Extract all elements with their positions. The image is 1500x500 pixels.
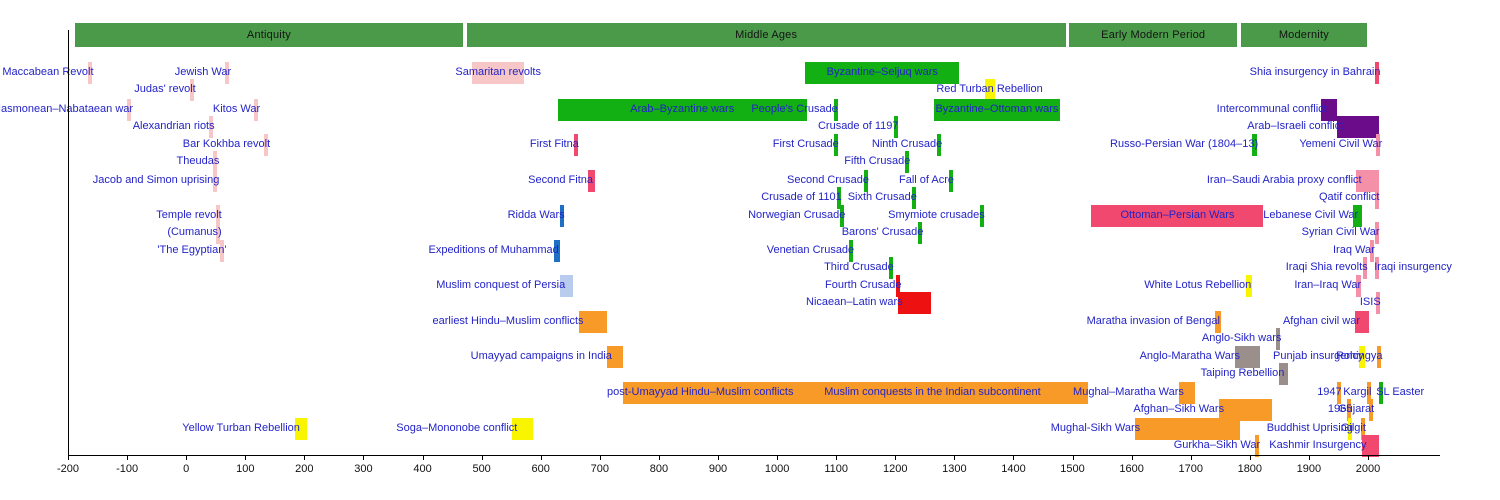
event-label: Expeditions of Muhammad [428, 244, 558, 256]
event-label: Taiping Rebellion [1201, 367, 1285, 379]
axis-tick-label: 900 [709, 463, 727, 475]
event-label: Gurkha–Sikh War [1174, 439, 1260, 451]
event-label: Bar Kokhba revolt [183, 138, 270, 150]
axis-tick-label: 1900 [1297, 463, 1321, 475]
event-label: Second Fitna [528, 174, 593, 186]
event-label: Maccabean Revolt [2, 66, 93, 78]
axis-tick [304, 455, 305, 460]
event-label: Intercommunal conflict [1217, 103, 1327, 115]
event-label: Iraqi insurgency [1374, 261, 1452, 273]
event-label: Afghan–Sikh Wars [1133, 403, 1224, 415]
event-label: Samaritan revolts [455, 66, 541, 78]
event-label: Anglo-Maratha Wars [1140, 350, 1240, 362]
era-segment[interactable]: Early Modern Period [1068, 22, 1238, 48]
event-label: First Fitna [530, 138, 579, 150]
event-label: Red Turban Rebellion [936, 83, 1042, 95]
event-label: Iran–Saudi Arabia proxy conflict [1207, 174, 1362, 186]
axis-tick-label: 2000 [1356, 463, 1380, 475]
axis-tick [954, 455, 955, 460]
event-label: ISIS [1360, 296, 1381, 308]
era-segment[interactable]: Modernity [1240, 22, 1368, 48]
axis-tick-label: -100 [116, 463, 138, 475]
event-label: Rohingya [1336, 350, 1382, 362]
event-label: Temple revolt [156, 209, 221, 221]
axis-tick [1132, 455, 1133, 460]
event-label: Ninth Crusade [872, 138, 942, 150]
event-label: Iraq War [1333, 244, 1375, 256]
event-label: Afghan civil war [1283, 315, 1360, 327]
axis-tick-label: 400 [413, 463, 431, 475]
event-bar[interactable] [1135, 418, 1240, 440]
event-label: Iran–Iraq War [1294, 279, 1361, 291]
axis-tick-label: 0 [183, 463, 189, 475]
event-label: Umayyad campaigns in India [471, 350, 612, 362]
event-label: Shia insurgency in Bahrain [1250, 66, 1381, 78]
event-label: Byzantine–Seljuq wars [827, 66, 938, 78]
axis-tick [1013, 455, 1014, 460]
event-label: Yemeni Civil War [1299, 138, 1382, 150]
event-label: Third Crusade [824, 261, 894, 273]
axis-tick-label: 800 [650, 463, 668, 475]
event-label: earliest Hindu–Muslim conflicts [433, 315, 584, 327]
event-label: Arab–Israeli conflict [1247, 120, 1343, 132]
event-label: Norwegian Crusade [748, 209, 845, 221]
timeline-chart: AntiquityMiddle AgesEarly Modern PeriodM… [0, 0, 1500, 500]
event-label: Gilgit [1341, 422, 1366, 434]
axis-tick [600, 455, 601, 460]
event-label: Smymiote crusades [888, 209, 985, 221]
event-label: Barons' Crusade [842, 226, 924, 238]
axis-tick-label: 1700 [1178, 463, 1202, 475]
era-segment[interactable]: Middle Ages [466, 22, 1067, 48]
event-bar[interactable] [1337, 116, 1379, 138]
event-label: Kargil [1343, 386, 1371, 398]
axis-tick [127, 455, 128, 460]
event-label: Ottoman–Persian Wars [1120, 209, 1234, 221]
axis-tick-label: 1800 [1238, 463, 1262, 475]
axis-tick [1191, 455, 1192, 460]
event-label: Jacob and Simon uprising [93, 174, 220, 186]
era-label: Antiquity [247, 29, 291, 41]
event-label: post-Umayyad Hindu–Muslim conflicts [607, 386, 793, 398]
event-label: Syrian Civil War [1302, 226, 1380, 238]
event-label: Kitos War [213, 103, 260, 115]
era-label: Middle Ages [735, 29, 797, 41]
event-label: Arab–Byzantine wars [630, 103, 734, 115]
event-label: Venetian Crusade [767, 244, 854, 256]
event-label: Yellow Turban Rebellion [182, 422, 300, 434]
event-label: Iraqi Shia revolts [1286, 261, 1368, 273]
axis-tick [68, 455, 69, 460]
axis-tick [777, 455, 778, 460]
axis-line-horizontal [68, 455, 1440, 456]
event-label: Sixth Crusade [848, 191, 917, 203]
axis-tick [541, 455, 542, 460]
axis-tick-label: 1400 [1001, 463, 1025, 475]
axis-tick-label: 500 [472, 463, 490, 475]
axis-tick-label: 600 [532, 463, 550, 475]
event-label: Qatif conflict [1319, 191, 1380, 203]
event-label: Gujarat [1338, 403, 1374, 415]
event-label: Anglo-Sikh wars [1202, 332, 1281, 344]
axis-tick [1368, 455, 1369, 460]
event-label: Fourth Crusade [825, 279, 901, 291]
event-label: Kashmir Insurgency [1269, 439, 1366, 451]
axis-tick-label: -200 [57, 463, 79, 475]
event-label: Hasmonean–Nabataean war [0, 103, 133, 115]
event-label: Ridda Wars [508, 209, 565, 221]
event-label: SL Easter [1376, 386, 1424, 398]
event-label: Theudas [177, 155, 220, 167]
axis-tick [895, 455, 896, 460]
event-label: Muslim conquests in the Indian subcontin… [824, 386, 1040, 398]
axis-tick-label: 200 [295, 463, 313, 475]
axis-tick-label: 300 [354, 463, 372, 475]
event-label: 'The Egyptian' [157, 244, 226, 256]
era-segment[interactable]: Antiquity [74, 22, 464, 48]
axis-tick [1250, 455, 1251, 460]
axis-tick-label: 1300 [942, 463, 966, 475]
event-label: Mughal–Maratha Wars [1073, 386, 1184, 398]
axis-tick-label: 100 [236, 463, 254, 475]
axis-tick-label: 1000 [765, 463, 789, 475]
axis-tick [423, 455, 424, 460]
event-label: Maratha invasion of Bengal [1087, 315, 1220, 327]
axis-tick [659, 455, 660, 460]
event-label: Muslim conquest of Persia [436, 279, 565, 291]
event-label: Alexandrian riots [133, 120, 215, 132]
axis-tick [363, 455, 364, 460]
event-label: Judas' revolt [134, 83, 195, 95]
axis-tick-label: 1600 [1119, 463, 1143, 475]
event-label: Russo-Persian War (1804–13) [1110, 138, 1258, 150]
event-label: Fall of Acre [899, 174, 954, 186]
event-label: Byzantine–Ottoman wars [935, 103, 1058, 115]
event-label: Crusade of 1101 [761, 191, 842, 203]
axis-tick [836, 455, 837, 460]
axis-tick [718, 455, 719, 460]
axis-tick-label: 1500 [1060, 463, 1084, 475]
event-label: People's Crusade [751, 103, 838, 115]
event-label: Jewish War [175, 66, 231, 78]
event-label: Crusade of 1197 [818, 120, 899, 132]
era-label: Modernity [1279, 29, 1329, 41]
axis-line-vertical [68, 30, 69, 455]
event-label: 1947 [1317, 386, 1341, 398]
event-label: Soga–Mononobe conflict [396, 422, 517, 434]
axis-tick-label: 700 [591, 463, 609, 475]
event-label: Fifth Crusade [844, 155, 910, 167]
event-label: White Lotus Rebellion [1144, 279, 1251, 291]
axis-tick [482, 455, 483, 460]
axis-tick [1309, 455, 1310, 460]
event-label: Lebanese Civil War [1263, 209, 1358, 221]
axis-tick-label: 1200 [883, 463, 907, 475]
axis-tick-label: 1100 [824, 463, 848, 475]
event-label: Mughal-Sikh Wars [1051, 422, 1140, 434]
event-label: Second Crusade [787, 174, 869, 186]
axis-tick [245, 455, 246, 460]
era-label: Early Modern Period [1101, 29, 1205, 41]
event-label: (Cumanus) [167, 226, 221, 238]
event-label: First Crusade [773, 138, 839, 150]
axis-tick [1073, 455, 1074, 460]
event-label: Nicaean–Latin wars [806, 296, 903, 308]
axis-tick [186, 455, 187, 460]
